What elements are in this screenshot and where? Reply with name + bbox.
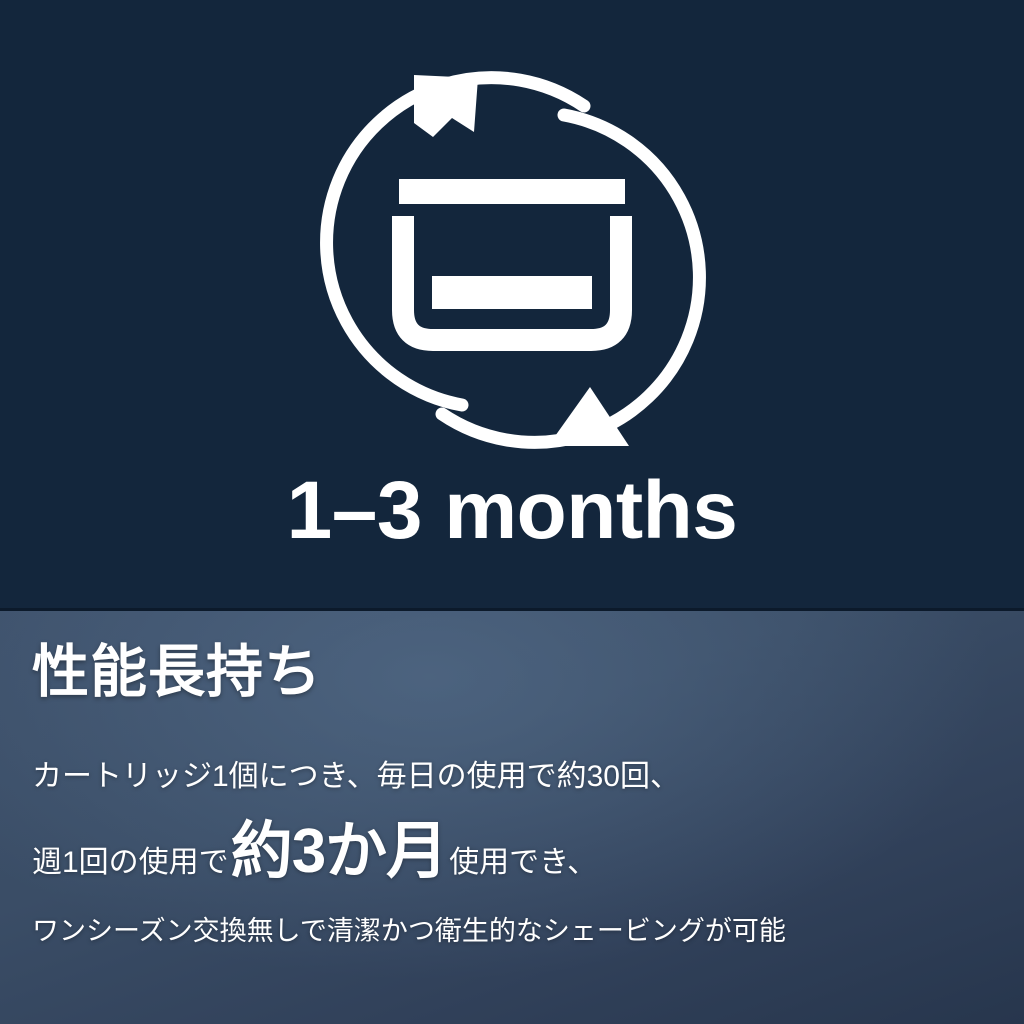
cartridge-inner-bar xyxy=(432,276,592,309)
feature-description-line-1: カートリッジ1個につき、毎日の使用で約30回、 xyxy=(32,762,680,792)
bottom-panel: 性能長持ち カートリッジ1個につき、毎日の使用で約30回、 週1回の使用で約3か… xyxy=(0,611,1024,1024)
replacement-cycle-cartridge-icon xyxy=(302,60,722,460)
line2-emphasis: 約3か月 xyxy=(229,821,449,883)
feature-title: 性能長持ち xyxy=(32,644,322,701)
top-panel: 1–3 months xyxy=(0,0,1024,610)
arrowhead-top-shape xyxy=(414,75,478,137)
line2-prefix: 週1回の使用で xyxy=(32,848,229,878)
feature-description-line-2: 週1回の使用で約3か月使用でき、 xyxy=(32,821,597,883)
feature-description-line-3: ワンシーズン交換無しで清潔かつ衛生的なシェービングが可能 xyxy=(32,918,786,945)
line2-suffix: 使用でき、 xyxy=(449,848,597,878)
product-feature-card: 1–3 months 性能長持ち カートリッジ1個につき、毎日の使用で約30回、… xyxy=(0,0,1024,1024)
headline-duration: 1–3 months xyxy=(0,470,1024,552)
arc-upper-left xyxy=(327,78,584,405)
cartridge-top-bar xyxy=(399,179,625,204)
